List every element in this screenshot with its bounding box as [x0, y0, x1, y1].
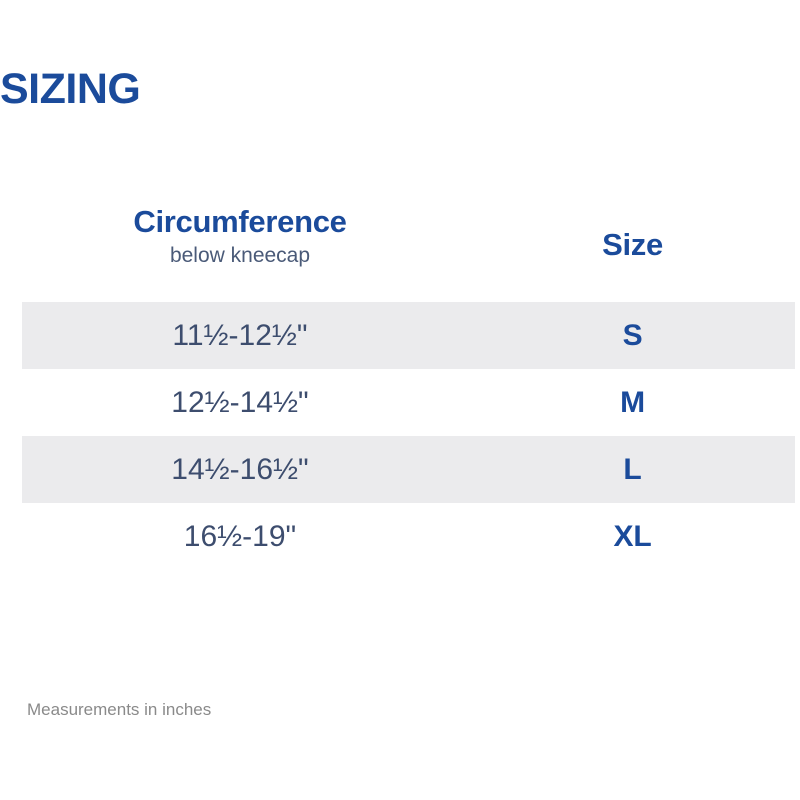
cell-measurement: 12½-14½": [0, 369, 480, 436]
table-row: 14½-16½" L: [0, 436, 800, 503]
cell-size: M: [560, 369, 705, 436]
table-row: 11½-12½" S: [0, 302, 800, 369]
header-measurement-title: Circumference: [0, 205, 480, 239]
header-cell-measurement: Circumference below kneecap: [0, 205, 480, 269]
sizing-table: Circumference below kneecap Size 11½-12½…: [0, 205, 800, 570]
cell-measurement: 11½-12½": [0, 302, 480, 369]
table-row: 16½-19" XL: [0, 503, 800, 570]
cell-size: S: [560, 302, 705, 369]
header-measurement-subtitle: below kneecap: [0, 243, 480, 269]
page-title: SIZING: [0, 68, 140, 111]
footnote-measurements-units: Measurements in inches: [27, 700, 211, 720]
cell-size: L: [560, 436, 705, 503]
table-row: 12½-14½" M: [0, 369, 800, 436]
header-cell-size: Size: [560, 205, 705, 262]
cell-measurement: 16½-19": [0, 503, 480, 570]
cell-size: XL: [560, 503, 705, 570]
header-size-title: Size: [560, 205, 705, 262]
sizing-chart-page: SIZING Circumference below kneecap Size …: [0, 0, 800, 800]
cell-measurement: 14½-16½": [0, 436, 480, 503]
table-header-row: Circumference below kneecap Size: [0, 205, 800, 302]
